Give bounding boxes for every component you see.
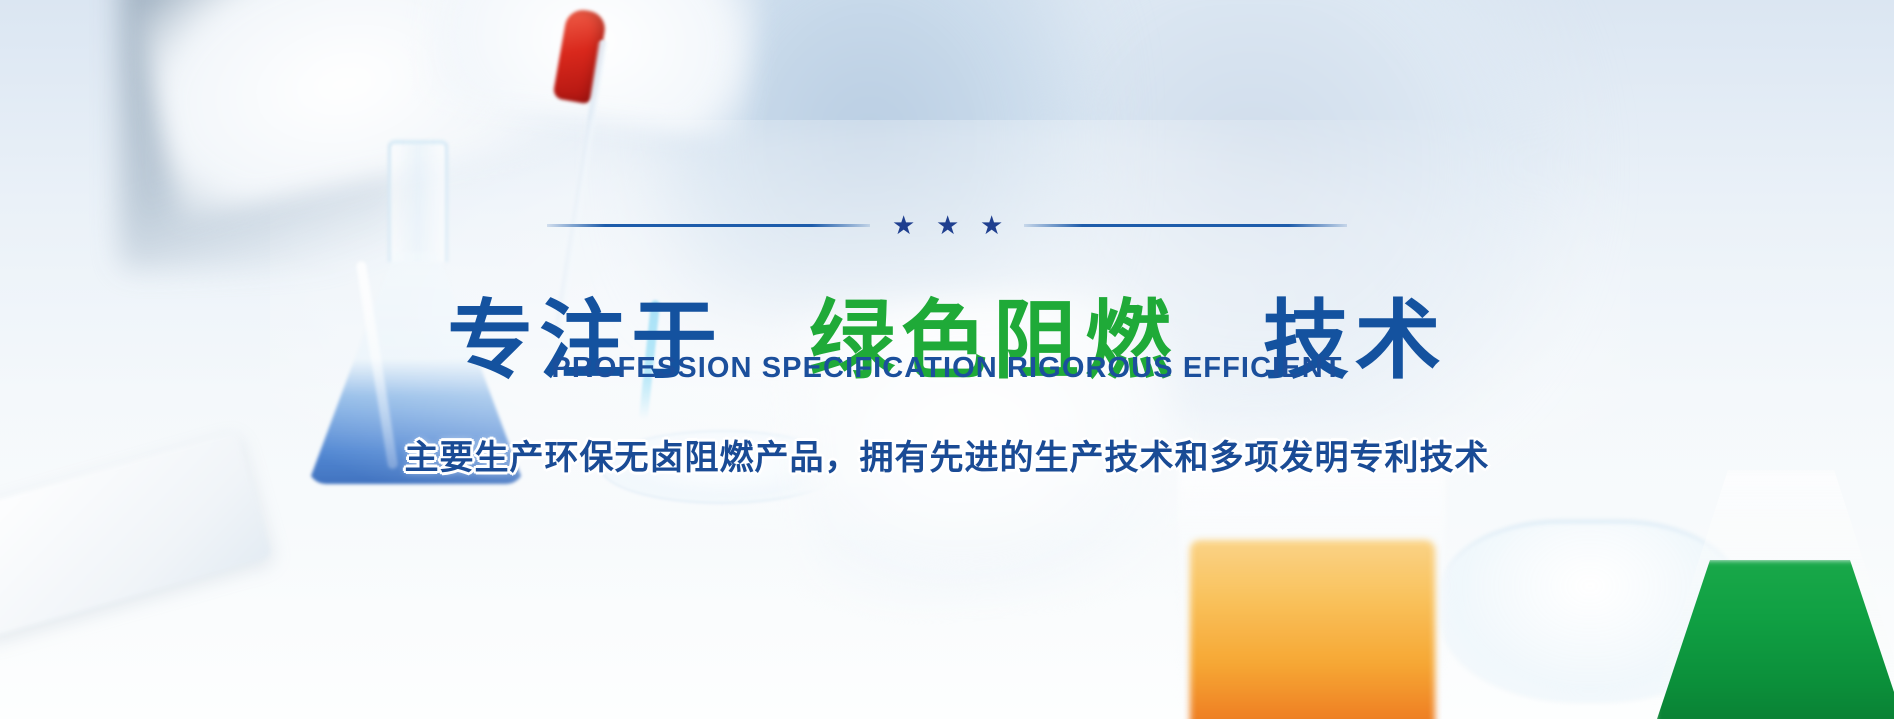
star-icon: ★	[980, 214, 1002, 236]
hero-banner: ★ ★ ★ 专注于 绿色阻燃 技术 PROFESSION SPECIFICATI…	[0, 0, 1894, 719]
star-icon: ★	[936, 214, 958, 236]
decorative-divider: ★ ★ ★	[547, 214, 1347, 236]
beaker-orange-liquid	[1190, 540, 1435, 719]
star-icon: ★	[892, 214, 914, 236]
divider-rule-right	[1024, 224, 1347, 227]
divider-rule-left	[547, 224, 870, 227]
star-group: ★ ★ ★	[892, 214, 1002, 236]
flask-neck	[388, 140, 448, 262]
chinese-tagline: 主要生产环保无卤阻燃产品，拥有先进的生产技术和多项发明专利技术	[0, 430, 1894, 479]
english-subtitle: PROFESSION SPECIFICATION RIGOROUS EFFICI…	[0, 352, 1894, 385]
